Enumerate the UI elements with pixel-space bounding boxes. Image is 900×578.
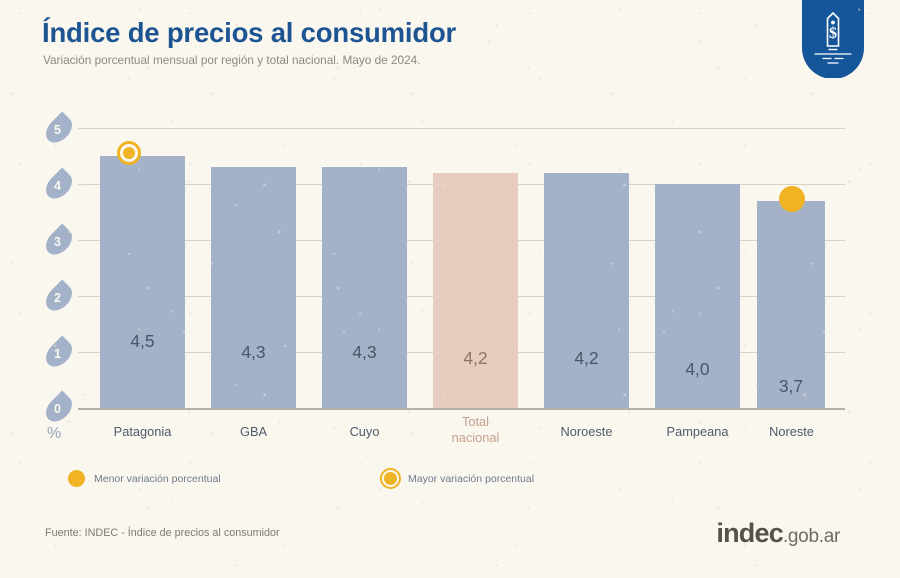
category-label-total-nacional-line2: nacional [423, 430, 528, 446]
bar-value-pampeana: 4,0 [655, 359, 740, 380]
chart-legend: Menor variación porcentual Mayor variaci… [0, 466, 900, 496]
legend-label-menor: Menor variación porcentual [94, 473, 221, 485]
legend-solid-dot-icon [68, 470, 85, 487]
y-axis-tick-label-3: 3 [44, 231, 74, 252]
gridline-0-baseline [78, 408, 845, 410]
bar-value-cuyo: 4,3 [322, 342, 407, 363]
category-label-gba: GBA [211, 424, 296, 440]
bar-noroeste[interactable]: 4,2 [544, 173, 629, 408]
category-label-total-nacional: Total nacional [423, 414, 528, 446]
category-label-noroeste: Noroeste [534, 424, 639, 440]
legend-item-mayor: Mayor variación porcentual [382, 470, 534, 487]
legend-ring-dot-icon [382, 470, 399, 487]
bar-value-total-nacional: 4,2 [433, 348, 518, 369]
bar-value-patagonia: 4,5 [100, 331, 185, 352]
category-label-cuyo: Cuyo [322, 424, 407, 440]
category-label-patagonia: Patagonia [100, 424, 185, 440]
y-axis-tick-2: 2 [44, 287, 74, 308]
y-axis-tick-label-2: 2 [44, 287, 74, 308]
y-axis-unit-label: % [47, 425, 61, 443]
y-axis-tick-1: 1 [44, 343, 74, 364]
indec-wordmark: indec.gob.ar [716, 518, 840, 549]
y-axis-tick-label-0: 0 [44, 398, 74, 419]
bar-value-noreste: 3,7 [757, 376, 825, 397]
bar-cuyo[interactable]: 4,3 [322, 167, 407, 408]
y-axis-tick-5: 5 [44, 119, 74, 140]
indec-wordmark-tld: .gob.ar [783, 526, 840, 547]
y-axis-tick-label-4: 4 [44, 175, 74, 196]
y-axis-tick-3: 3 [44, 231, 74, 252]
menor-variacion-marker-icon [779, 186, 805, 212]
bar-pampeana[interactable]: 4,0 [655, 184, 740, 408]
gridline-5 [78, 128, 845, 129]
y-axis-tick-label-1: 1 [44, 343, 74, 364]
y-axis-tick-0: 0 [44, 398, 74, 419]
legend-label-mayor: Mayor variación porcentual [408, 473, 534, 485]
source-note: Fuente: INDEC - Índice de precios al con… [45, 527, 280, 539]
indec-wordmark-main: indec [716, 518, 783, 548]
bar-noreste[interactable]: 3,7 [757, 201, 825, 408]
bar-gba[interactable]: 4,3 [211, 167, 296, 408]
y-axis-tick-4: 4 [44, 175, 74, 196]
mayor-variacion-marker-icon [120, 144, 138, 162]
category-label-pampeana: Pampeana [645, 424, 750, 440]
bar-total-nacional[interactable]: 4,2 [433, 173, 518, 408]
bar-patagonia[interactable]: 4,5 [100, 156, 185, 408]
category-label-noreste: Noreste [739, 424, 844, 440]
bar-value-noroeste: 4,2 [544, 348, 629, 369]
category-label-total-nacional-line1: Total [423, 414, 528, 430]
bar-value-gba: 4,3 [211, 342, 296, 363]
y-axis-tick-label-5: 5 [44, 119, 74, 140]
legend-item-menor: Menor variación porcentual [68, 470, 221, 487]
